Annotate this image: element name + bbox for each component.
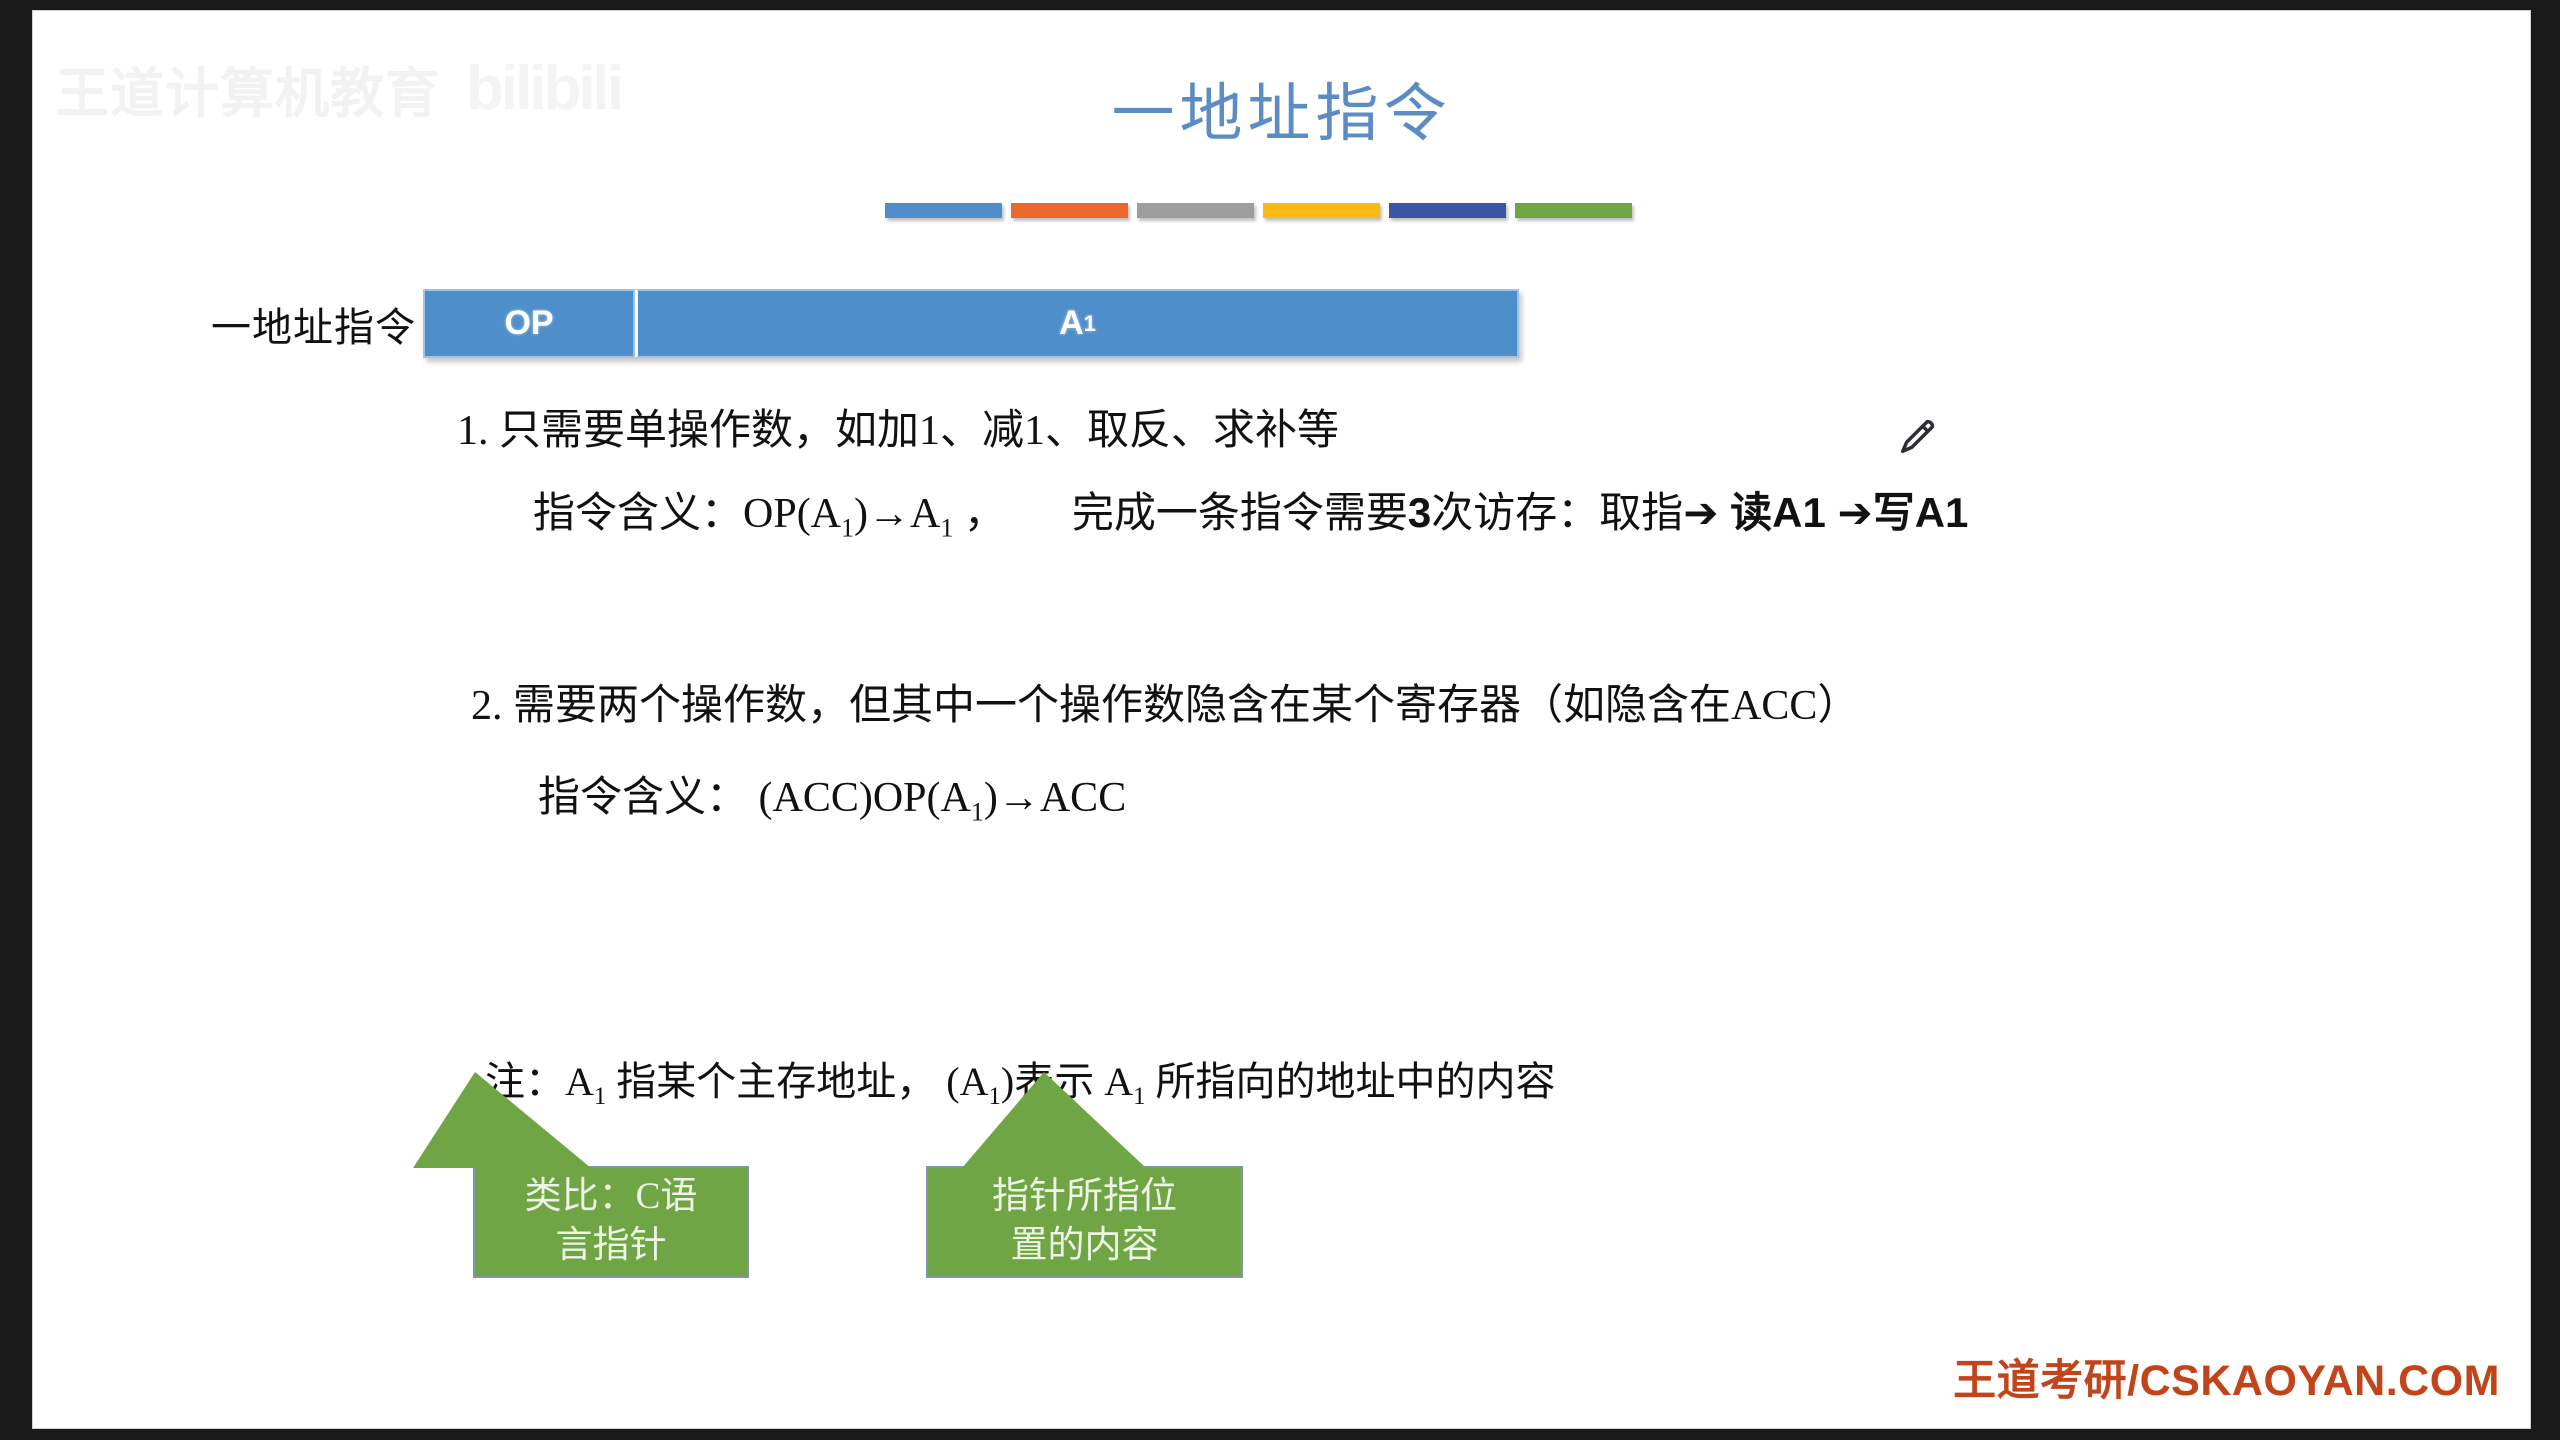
callout-pointer-content-text: 指针所指位 置的内容	[992, 1173, 1177, 1271]
callout-pointer-content: 指针所指位 置的内容	[926, 1166, 1243, 1278]
item2-detail-prefix: 指令含义： (ACC)OP(A	[538, 775, 971, 821]
accent-bar-green	[1515, 203, 1632, 218]
note-sub-1: 1	[594, 1083, 606, 1110]
accent-bar-blue	[885, 203, 1002, 218]
brand-footer: 王道考研/CSKAOYAN.COM	[1953, 1346, 2500, 1408]
callout-line-2: 言指针	[556, 1225, 667, 1266]
callout-tail	[962, 1072, 1146, 1168]
item2-sub-1: 1	[971, 797, 984, 826]
page-title: 一地址指令	[33, 63, 2530, 154]
callout-c-pointer: 类比：C语 言指针	[473, 1166, 749, 1278]
item1-detail-prefix: 指令含义：OP(A	[533, 491, 841, 537]
item1-sub-1: 1	[841, 513, 854, 542]
callout-line-1: 类比：C语	[525, 1176, 698, 1217]
item1-detail-second: 完成一条指令需要	[1072, 491, 1408, 537]
item1-access-count: 3	[1408, 489, 1431, 536]
accent-bar-gray	[1137, 203, 1254, 218]
arrow-2-icon: ➔	[1838, 489, 1873, 536]
accent-bar-group	[885, 203, 1632, 218]
op-field-cell: OP	[423, 289, 635, 358]
pen-icon	[1895, 415, 1939, 459]
callout-c-pointer-text: 类比：C语 言指针	[525, 1173, 698, 1271]
callout-tail	[413, 1072, 591, 1168]
item1-write-a1: 写A1	[1873, 489, 1969, 536]
item2-detail: 指令含义： (ACC)OP(A1)→ACC	[538, 763, 1126, 827]
item1-detail-after: ，	[953, 491, 1006, 537]
item1-heading: 1. 只需要单操作数，如加1、减1、取反、求补等	[457, 396, 1339, 457]
screen-viewport: 王道计算机教育 bilibili 一地址指令 一地址指令 OP A1	[0, 0, 2560, 1440]
a1-field-cell: A1	[635, 289, 1519, 358]
item2-detail-tail: )→ACC	[984, 775, 1126, 821]
note-tail: 所指向的地址中的内容	[1146, 1059, 1556, 1104]
instruction-format-label: 一地址指令	[211, 295, 423, 353]
item1-read-a1: 读A1	[1718, 489, 1837, 536]
item1-detail-tail: 次访存：取指	[1431, 491, 1683, 537]
slide-canvas: 王道计算机教育 bilibili 一地址指令 一地址指令 OP A1	[33, 11, 2530, 1428]
instruction-format-row: 一地址指令 OP A1	[211, 289, 1519, 358]
accent-bar-dark-blue	[1389, 203, 1506, 218]
op-field-label: OP	[504, 304, 553, 343]
accent-bar-orange	[1011, 203, 1128, 218]
a1-field-subscript: 1	[1084, 311, 1096, 337]
item2-heading: 2. 需要两个操作数，但其中一个操作数隐含在某个寄存器（如隐含在ACC）	[471, 671, 1859, 732]
arrow-1-icon: ➔	[1683, 489, 1718, 536]
callout-line-1: 指针所指位	[992, 1176, 1177, 1217]
a1-field-label: A	[1059, 304, 1084, 343]
accent-bar-yellow	[1263, 203, 1380, 218]
item1-sub-2: 1	[940, 513, 953, 542]
callout-line-2: 置的内容	[1011, 1225, 1159, 1266]
item1-detail-mid: )→A	[854, 491, 940, 537]
item1-detail: 指令含义：OP(A1)→A1 ，完成一条指令需要3次访存：取指➔ 读A1 ➔写A…	[533, 479, 1968, 543]
instruction-format-table: OP A1	[423, 289, 1519, 358]
note-mid: 指某个主存地址， (A	[606, 1059, 988, 1104]
